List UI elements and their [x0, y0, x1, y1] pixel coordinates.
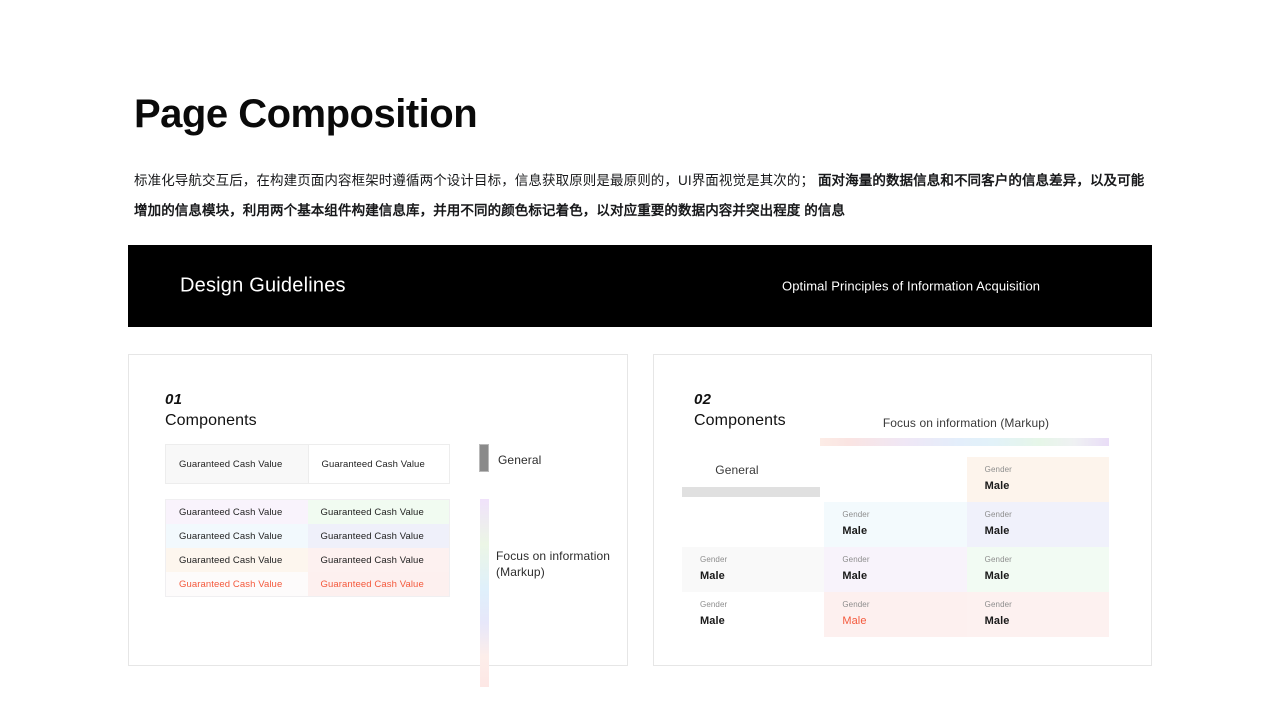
grid-cell[interactable]: Gender Male	[824, 592, 966, 637]
grid-cell[interactable]: Gender Male	[824, 502, 966, 547]
table-row: Guaranteed Cash Value Guaranteed Cash Va…	[166, 524, 449, 548]
panel-two-heading: Components	[694, 412, 786, 430]
field-value: Male	[985, 523, 1109, 539]
panel-two-index: 02	[694, 391, 711, 408]
field-value: Male	[985, 613, 1109, 629]
field-label: Gender	[985, 464, 1109, 476]
panel-components-01: 01 Components Guaranteed Cash Value Guar…	[128, 354, 628, 666]
legend-swatch-markup-gradient	[480, 499, 489, 687]
table-row: Guaranteed Cash Value Guaranteed Cash Va…	[166, 572, 449, 596]
table-cell[interactable]: Guaranteed Cash Value	[308, 572, 450, 596]
table-cell[interactable]: Guaranteed Cash Value	[308, 500, 450, 524]
field-label: Gender	[842, 509, 966, 521]
table-row: Guaranteed Cash Value Guaranteed Cash Va…	[166, 548, 449, 572]
table-cell[interactable]: Guaranteed Cash Value	[166, 548, 308, 572]
cell-label: Guaranteed Cash Value	[321, 531, 424, 542]
grid-cell[interactable]: Gender Male	[682, 592, 824, 637]
legend-label-markup: Focus on information (Markup)	[496, 548, 626, 580]
intro-paragraph: 标准化导航交互后，在构建页面内容框架时遵循两个设计目标，信息获取原则是最原则的，…	[134, 166, 1149, 226]
cell-label: Guaranteed Cash Value	[179, 531, 282, 542]
general-table: Guaranteed Cash Value Guaranteed Cash Va…	[165, 444, 450, 484]
table-cell[interactable]: Guaranteed Cash Value	[308, 548, 450, 572]
field-value: Male	[700, 568, 824, 584]
focus-gradient-bar	[820, 438, 1109, 446]
field-label: Gender	[842, 599, 966, 611]
banner-subtitle: Optimal Principles of Information Acquis…	[782, 279, 1040, 294]
design-guidelines-banner: Design Guidelines Optimal Principles of …	[128, 245, 1152, 327]
table-cell[interactable]: Guaranteed Cash Value	[166, 524, 308, 548]
grid-row: Gender Male Gender Male Gender Male	[682, 547, 1109, 592]
markup-table: Guaranteed Cash Value Guaranteed Cash Va…	[165, 499, 450, 597]
cell-label: Guaranteed Cash Value	[179, 507, 282, 518]
cell-label: Guaranteed Cash Value	[321, 507, 424, 518]
field-value: Male	[842, 568, 966, 584]
grid-row: Gender Male	[682, 457, 1109, 502]
field-value: Male	[842, 613, 966, 629]
panel-one-index: 01	[165, 391, 182, 408]
grid-cell[interactable]: Gender Male	[967, 457, 1109, 502]
field-label: Gender	[700, 599, 824, 611]
grid-row: Gender Male Gender Male	[682, 502, 1109, 547]
cell-label: Guaranteed Cash Value	[179, 555, 282, 566]
table-cell[interactable]: Guaranteed Cash Value	[308, 445, 450, 483]
grid-cell[interactable]: Gender Male	[824, 547, 966, 592]
table-cell[interactable]: Guaranteed Cash Value	[166, 572, 308, 596]
table-cell[interactable]: Guaranteed Cash Value	[308, 524, 450, 548]
cell-label: Guaranteed Cash Value	[179, 459, 282, 470]
cell-label: Guaranteed Cash Value	[179, 579, 282, 590]
field-label: Gender	[985, 554, 1109, 566]
grid-cell-empty	[682, 457, 824, 502]
panel-components-02: 02 Components Focus on information (Mark…	[653, 354, 1152, 666]
field-value: Male	[842, 523, 966, 539]
cell-label: Guaranteed Cash Value	[322, 459, 425, 470]
grid-cell-empty	[682, 502, 824, 547]
table-cell[interactable]: Guaranteed Cash Value	[166, 500, 308, 524]
panel-one-heading: Components	[165, 412, 257, 430]
legend-swatch-general	[479, 444, 489, 472]
grid-cell[interactable]: Gender Male	[967, 547, 1109, 592]
cell-label: Guaranteed Cash Value	[321, 579, 424, 590]
banner-title: Design Guidelines	[180, 275, 346, 298]
intro-text-regular: 标准化导航交互后，在构建页面内容框架时遵循两个设计目标，信息获取原则是最原则的，…	[134, 173, 818, 188]
table-row: Guaranteed Cash Value Guaranteed Cash Va…	[166, 500, 449, 524]
field-label: Gender	[985, 509, 1109, 521]
field-value: Male	[985, 478, 1109, 494]
cell-label: Guaranteed Cash Value	[321, 555, 424, 566]
field-label: Gender	[700, 554, 824, 566]
grid-cell[interactable]: Gender Male	[967, 502, 1109, 547]
gender-grid: Gender Male Gender Male Gender Male Gend…	[682, 457, 1109, 637]
field-value: Male	[985, 568, 1109, 584]
page-title: Page Composition	[134, 92, 477, 136]
table-cell[interactable]: Guaranteed Cash Value	[166, 445, 308, 483]
grid-cell-empty	[824, 457, 966, 502]
grid-cell[interactable]: Gender Male	[967, 592, 1109, 637]
grid-row: Gender Male Gender Male Gender Male	[682, 592, 1109, 637]
focus-gradient-label: Focus on information (Markup)	[816, 416, 1116, 430]
grid-cell[interactable]: Gender Male	[682, 547, 824, 592]
field-value: Male	[700, 613, 824, 629]
field-label: Gender	[985, 599, 1109, 611]
legend-label-general: General	[498, 453, 541, 467]
field-label: Gender	[842, 554, 966, 566]
